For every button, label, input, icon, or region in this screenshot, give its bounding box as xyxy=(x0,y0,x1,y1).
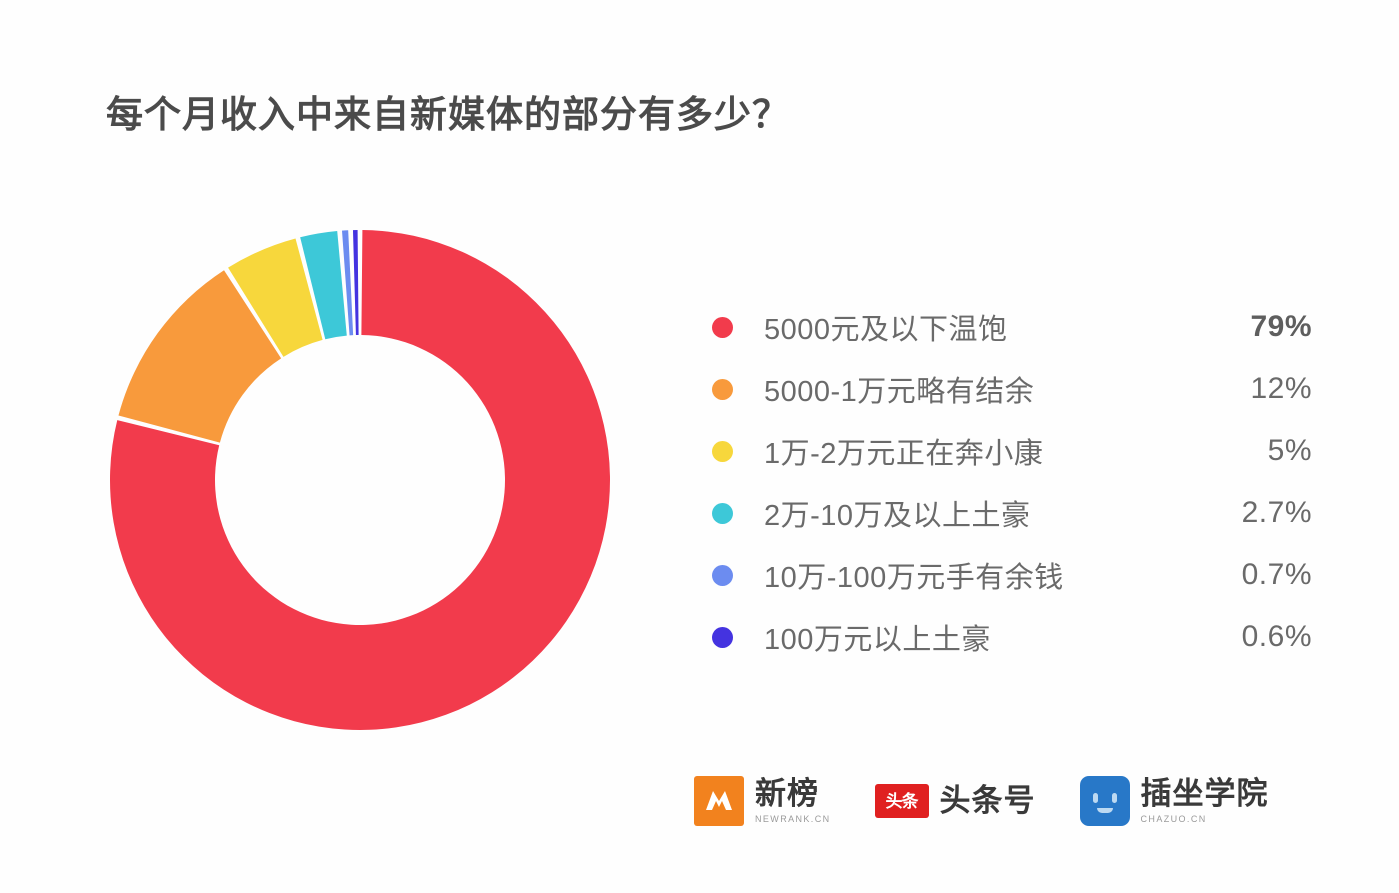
legend-item[interactable]: 5000-1万元略有结余12% xyxy=(712,358,1312,420)
legend-color-swatch xyxy=(712,627,733,648)
chazuo-text: 插坐学院 CHAZUO.CN xyxy=(1141,778,1269,824)
legend-value: 0.6% xyxy=(1194,620,1312,654)
chazuo-sub: CHAZUO.CN xyxy=(1141,814,1269,824)
legend-label: 1万-2万元正在奔小康 xyxy=(764,430,1194,472)
chazuo-eye-right xyxy=(1112,793,1117,803)
legend-color-swatch xyxy=(712,565,733,586)
chazuo-mouth xyxy=(1097,808,1113,813)
logo-toutiaohao: 头条 头条号 xyxy=(875,784,1036,818)
chart-page: 每个月收入中来自新媒体的部分有多少？ 5000元及以下温饱79%5000-1万元… xyxy=(0,0,1399,893)
newrank-mark-icon xyxy=(694,776,744,826)
newrank-text: 新榜 NEWRANK.CN xyxy=(755,778,831,824)
legend-value: 2.7% xyxy=(1194,496,1312,530)
toutiaohao-text: 头条号 xyxy=(940,785,1036,818)
legend-label: 2万-10万及以上土豪 xyxy=(764,492,1194,534)
donut-slice-group xyxy=(110,230,610,730)
logo-chazuo: 插坐学院 CHAZUO.CN xyxy=(1080,776,1269,826)
legend-item[interactable]: 10万-100万元手有余钱0.7% xyxy=(712,544,1312,606)
legend-value: 0.7% xyxy=(1194,558,1312,592)
legend-color-swatch xyxy=(712,441,733,462)
chazuo-face-icon xyxy=(1080,776,1130,826)
legend-color-swatch xyxy=(712,379,733,400)
donut-chart-svg xyxy=(108,228,612,732)
legend-item[interactable]: 5000元及以下温饱79% xyxy=(712,296,1312,358)
chazuo-name: 插坐学院 xyxy=(1141,778,1269,811)
chart-legend: 5000元及以下温饱79%5000-1万元略有结余12%1万-2万元正在奔小康5… xyxy=(712,296,1312,668)
legend-label: 5000-1万元略有结余 xyxy=(764,368,1194,410)
newrank-name: 新榜 xyxy=(755,778,831,811)
legend-label: 10万-100万元手有余钱 xyxy=(764,554,1194,596)
page-title: 每个月收入中来自新媒体的部分有多少？ xyxy=(106,84,790,138)
toutiao-mark-icon: 头条 xyxy=(875,784,929,818)
newrank-sub: NEWRANK.CN xyxy=(755,814,831,824)
legend-item[interactable]: 100万元以上土豪0.6% xyxy=(712,606,1312,668)
donut-chart xyxy=(108,228,612,732)
toutiaohao-name: 头条号 xyxy=(940,785,1036,818)
footer-logo-row: 新榜 NEWRANK.CN 头条 头条号 插坐学院 CHAZUO.CN xyxy=(694,776,1269,826)
legend-value: 12% xyxy=(1194,372,1312,406)
legend-value: 5% xyxy=(1194,434,1312,468)
legend-item[interactable]: 1万-2万元正在奔小康5% xyxy=(712,420,1312,482)
donut-slice[interactable] xyxy=(353,230,359,335)
legend-item[interactable]: 2万-10万及以上土豪2.7% xyxy=(712,482,1312,544)
chazuo-eye-left xyxy=(1093,793,1098,803)
legend-color-swatch xyxy=(712,317,733,338)
legend-label: 100万元以上土豪 xyxy=(764,616,1194,658)
legend-label: 5000元及以下温饱 xyxy=(764,306,1194,348)
logo-newrank: 新榜 NEWRANK.CN xyxy=(694,776,831,826)
legend-value: 79% xyxy=(1194,310,1312,344)
legend-color-swatch xyxy=(712,503,733,524)
